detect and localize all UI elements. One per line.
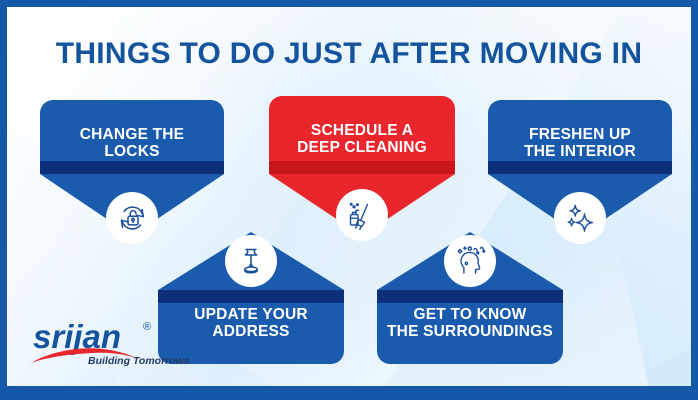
bottom-bar xyxy=(0,386,698,400)
card-label: CHANGE THE LOCKS xyxy=(50,126,214,160)
card-label: UPDATE YOUR ADDRESS xyxy=(194,306,308,340)
card-body: GET TO KNOW THE SURROUNDINGS xyxy=(377,290,563,364)
card-band xyxy=(377,290,563,303)
srijan-logo: srijan ® Building Tomorrows xyxy=(31,316,191,368)
infographic-panel: THINGS TO DO JUST AFTER MOVING IN CHANGE… xyxy=(7,7,691,386)
card-schedule-a-deep-cleaning[interactable]: SCHEDULE A DEEP CLEANING xyxy=(269,96,455,174)
padlock-refresh-icon xyxy=(106,192,158,244)
card-freshen-up-the-interior[interactable]: FRESHEN UP THE INTERIOR xyxy=(488,100,672,174)
head-thinking-icon xyxy=(444,235,496,287)
pushpin-icon xyxy=(225,235,277,287)
card-label: GET TO KNOW THE SURROUNDINGS xyxy=(387,306,553,340)
page-title: THINGS TO DO JUST AFTER MOVING IN xyxy=(7,37,691,71)
card-body: CHANGE THE LOCKS xyxy=(40,100,224,174)
sparkles-icon xyxy=(554,192,606,244)
logo-tagline: Building Tomorrows xyxy=(88,355,190,367)
card-get-to-know-the-surroundings[interactable]: GET TO KNOW THE SURROUNDINGS xyxy=(377,290,563,364)
card-band xyxy=(40,161,224,174)
card-label: SCHEDULE A DEEP CLEANING xyxy=(279,122,445,156)
card-band xyxy=(269,161,455,174)
mop-spray-cleaning-icon xyxy=(336,189,388,241)
card-change-the-locks[interactable]: CHANGE THE LOCKS xyxy=(40,100,224,174)
card-body: SCHEDULE A DEEP CLEANING xyxy=(269,96,455,174)
logo-registered-mark: ® xyxy=(143,321,151,333)
infographic-root: THINGS TO DO JUST AFTER MOVING IN CHANGE… xyxy=(0,0,698,400)
card-band xyxy=(158,290,344,303)
card-body: FRESHEN UP THE INTERIOR xyxy=(488,100,672,174)
card-label: FRESHEN UP THE INTERIOR xyxy=(498,126,662,160)
card-band xyxy=(488,161,672,174)
